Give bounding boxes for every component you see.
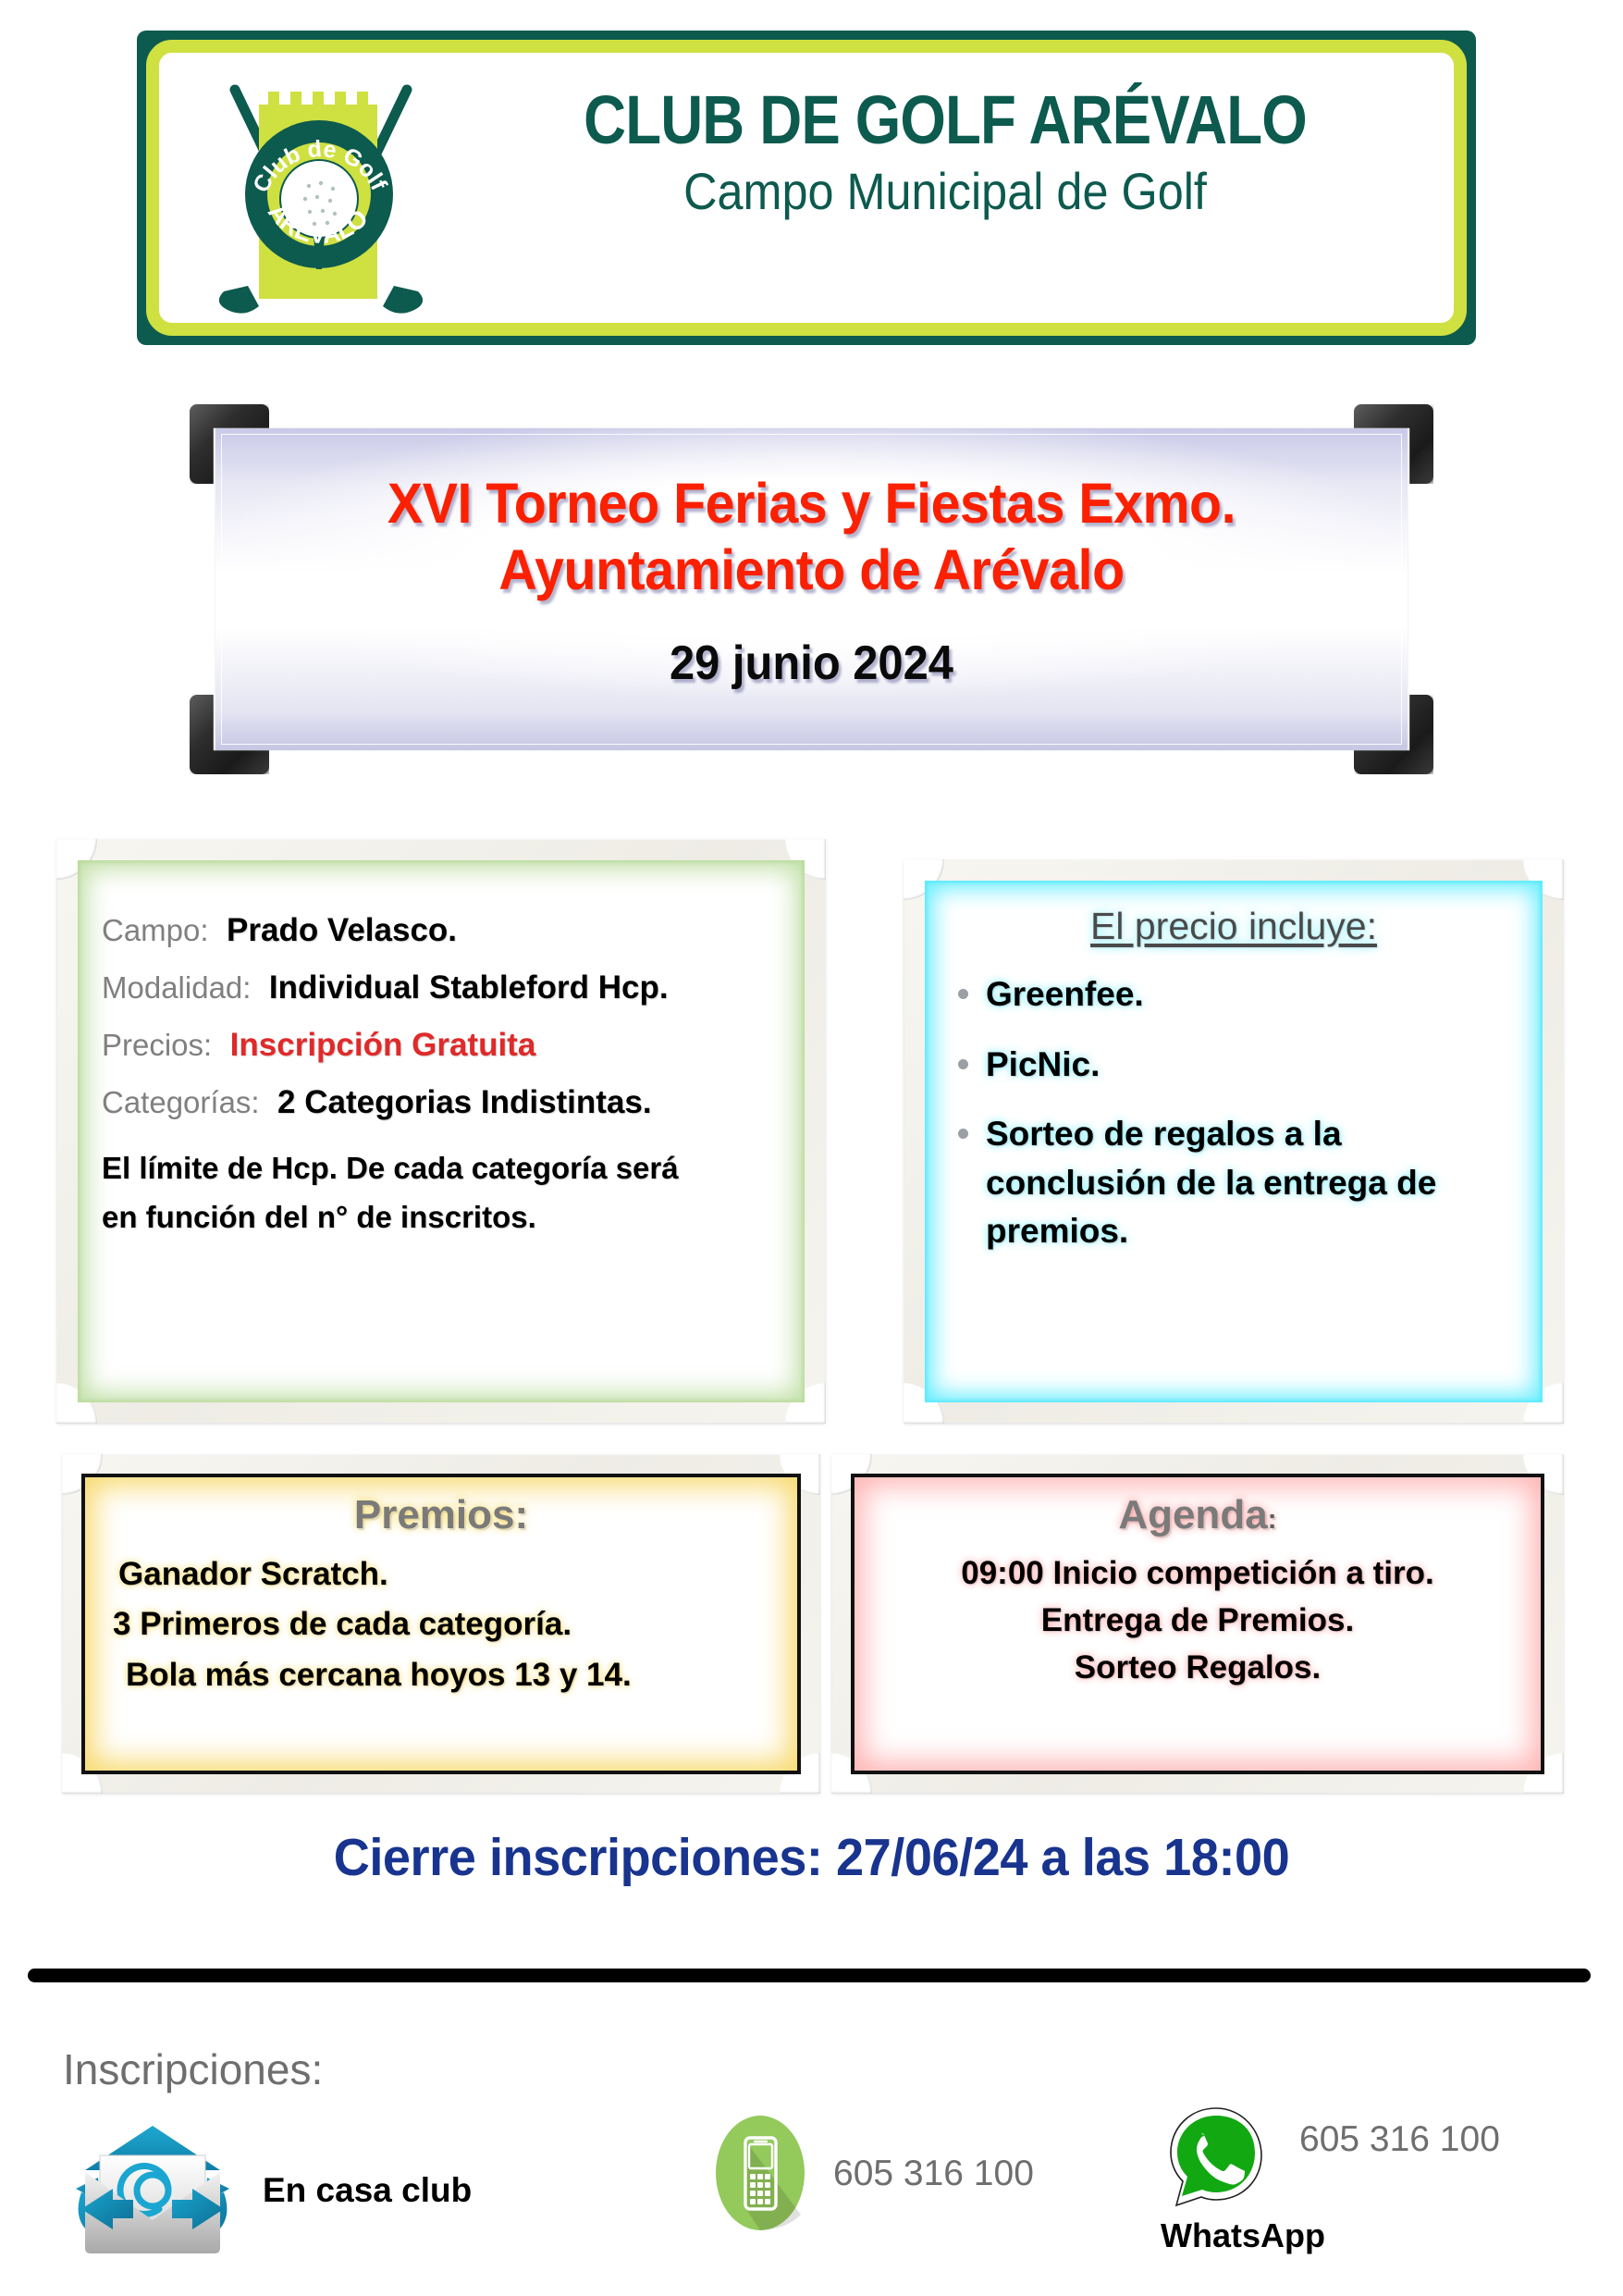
email-text: En casa club	[263, 2171, 472, 2210]
tournament-title: XVI Torneo Ferias y Fiestas Exmo. Ayunta…	[227, 471, 1396, 604]
info-note-line1: El límite de Hcp. De cada categoría será	[102, 1143, 781, 1192]
contact-whatsapp[interactable]: WhatsApp 605 316 100	[1161, 2103, 1500, 2255]
tournament-date: 29 junio 2024	[227, 636, 1396, 691]
agenda-line: Entrega de Premios.	[875, 1597, 1520, 1644]
tournament-info-content: Campo: Prado Velasco. Modalidad: Individ…	[78, 860, 805, 1402]
info-value-campo: Prado Velasco.	[227, 912, 457, 948]
list-item: Sorteo de regalos a la conclusión de la …	[956, 1110, 1524, 1256]
info-label-modalidad: Modalidad:	[102, 970, 251, 1005]
prizes-line: 3 Primeros de cada categoría.	[105, 1601, 777, 1648]
whatsapp-label: WhatsApp	[1161, 2216, 1272, 2255]
info-row-precios: Precios: Inscripción Gratuita	[102, 1029, 781, 1061]
prizes-box: Premios: Ganador Scratch. 3 Primeros de …	[63, 1455, 819, 1793]
info-label-categorias: Categorías:	[102, 1085, 260, 1119]
prizes-content: Premios: Ganador Scratch. 3 Primeros de …	[81, 1474, 801, 1774]
contact-phone[interactable]: 605 316 100	[712, 2111, 1034, 2236]
info-value-modalidad: Individual Stableford Hcp.	[269, 969, 669, 1006]
list-item: Greenfee.	[956, 970, 1524, 1019]
info-label-precios: Precios:	[102, 1028, 212, 1062]
section-divider	[28, 1969, 1591, 1982]
info-row-categorias: Categorías: 2 Categorias Indistintas.	[102, 1086, 781, 1118]
header-banner: Club de Golf ARÉVALO CLUB DE GOLF ARÉVAL…	[137, 31, 1476, 345]
whatsapp-number: 605 316 100	[1299, 2119, 1500, 2160]
info-value-categorias: 2 Categorias Indistintas.	[277, 1084, 652, 1120]
club-name: CLUB DE GOLF ARÉVALO	[523, 84, 1367, 156]
contact-email[interactable]: En casa club	[55, 2117, 472, 2265]
club-logo-icon: Club de Golf ARÉVALO	[187, 60, 455, 338]
agenda-content: Agenda: 09:00 Inicio competición a tiro.…	[851, 1474, 1544, 1774]
agenda-line: 09:00 Inicio competición a tiro.	[875, 1549, 1520, 1597]
price-includes-title: El precio incluye:	[943, 905, 1524, 948]
info-row-campo: Campo: Prado Velasco.	[102, 914, 781, 946]
mobile-phone-icon	[712, 2111, 809, 2236]
price-includes-list: Greenfee. PicNic. Sorteo de regalos a la…	[943, 970, 1524, 1256]
info-note: El límite de Hcp. De cada categoría será…	[102, 1143, 781, 1242]
registration-label: Inscripciones:	[63, 2044, 323, 2094]
prizes-title: Premios:	[105, 1492, 777, 1538]
club-subtitle: Campo Municipal de Golf	[504, 162, 1386, 221]
registration-deadline: Cierre inscripciones: 27/06/24 a las 18:…	[41, 1827, 1582, 1888]
tournament-info-box: Campo: Prado Velasco. Modalidad: Individ…	[57, 840, 825, 1423]
list-item: PicNic.	[956, 1041, 1524, 1090]
header-title-group: CLUB DE GOLF ARÉVALO Campo Municipal de …	[455, 84, 1435, 221]
info-value-precios: Inscripción Gratuita	[230, 1027, 536, 1063]
agenda-title-text: Agenda	[1118, 1492, 1267, 1537]
agenda-title: Agenda:	[875, 1492, 1520, 1538]
tournament-title-frame: XVI Torneo Ferias y Fiestas Exmo. Ayunta…	[190, 404, 1433, 774]
prizes-line: Bola más cercana hoyos 13 y 14.	[105, 1652, 777, 1698]
tournament-title-line1: XVI Torneo Ferias y Fiestas Exmo.	[227, 471, 1396, 537]
price-includes-content: El precio incluye: Greenfee. PicNic. Sor…	[925, 881, 1543, 1402]
price-includes-box: El precio incluye: Greenfee. PicNic. Sor…	[904, 860, 1563, 1423]
agenda-box: Agenda: 09:00 Inicio competición a tiro.…	[832, 1455, 1563, 1793]
phone-number: 605 316 100	[833, 2154, 1034, 2194]
agenda-title-colon: :	[1268, 1504, 1277, 1535]
info-note-line2: en función del n° de inscritos.	[102, 1192, 781, 1241]
prizes-line: Ganador Scratch.	[105, 1551, 777, 1598]
email-envelope-at-icon	[55, 2117, 250, 2265]
header-banner-inner: Club de Golf ARÉVALO CLUB DE GOLF ARÉVAL…	[146, 40, 1467, 336]
whatsapp-stack: WhatsApp	[1161, 2103, 1272, 2255]
info-row-modalidad: Modalidad: Individual Stableford Hcp.	[102, 971, 781, 1004]
info-label-campo: Campo:	[102, 913, 209, 947]
agenda-line: Sorteo Regalos.	[875, 1644, 1520, 1691]
tournament-title-line2: Ayuntamiento de Arévalo	[227, 537, 1396, 604]
whatsapp-icon	[1166, 2103, 1266, 2216]
